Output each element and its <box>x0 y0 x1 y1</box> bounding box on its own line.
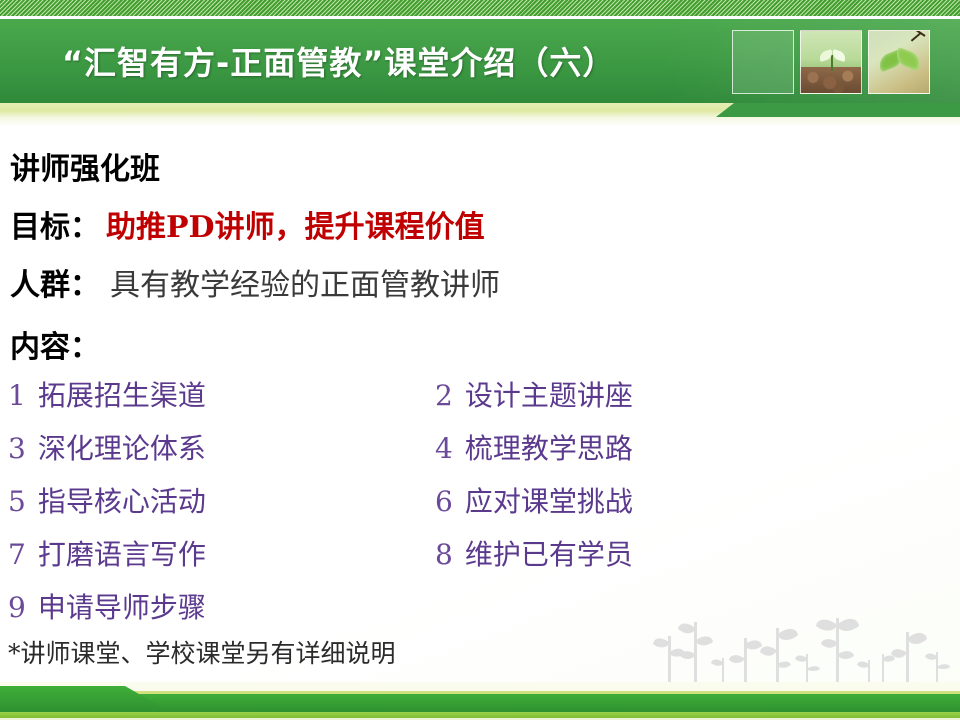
list-item: 1拓展招生渠道 <box>8 374 206 414</box>
list-item-label: 指导核心活动 <box>38 485 206 518</box>
audience-value: 具有教学经验的正面管教讲师 <box>110 268 500 303</box>
seedling-leaf-right <box>831 49 847 62</box>
footnote-text: *讲师课堂、学校课堂另有详细说明 <box>8 634 396 670</box>
list-item: 4梳理教学思路 <box>435 427 633 467</box>
page-title: “汇智有方-正面管教”课堂介绍（六） <box>62 38 615 84</box>
list-item-label: 维护已有学员 <box>465 538 633 571</box>
list-item-label: 设计主题讲座 <box>465 379 633 412</box>
list-item-number: 1 <box>8 379 26 412</box>
list-item: 3深化理论体系 <box>8 427 206 467</box>
banner-hatched-strip <box>0 0 960 16</box>
list-item-number: 9 <box>8 591 26 624</box>
content-label: 内容： <box>10 322 100 366</box>
list-item: 6应对课堂挑战 <box>435 480 633 520</box>
list-item-number: 3 <box>8 432 26 465</box>
list-item-number: 7 <box>8 538 26 571</box>
list-item: 8维护已有学员 <box>435 533 633 573</box>
goal-value: 助推PD讲师，提升课程价值 <box>106 210 485 245</box>
goal-label: 目标： <box>10 210 100 245</box>
audience-label: 人群： <box>10 268 100 303</box>
header-thumbnail-strip <box>732 30 932 94</box>
slide-canvas: “汇智有方-正面管教”课堂介绍（六） 讲师强化班 目标：助推PD讲师，提升课程价… <box>0 0 960 720</box>
list-item-label: 应对课堂挑战 <box>465 485 633 518</box>
slide-body: 讲师强化班 目标：助推PD讲师，提升课程价值 人群：具有教学经验的正面管教讲师 … <box>0 122 960 682</box>
seedling-stem <box>831 55 833 71</box>
list-item-label: 申请导师步骤 <box>38 591 206 624</box>
seedling-thumbnail <box>800 30 862 94</box>
list-item: 7打磨语言写作 <box>8 533 206 573</box>
list-item-number: 8 <box>435 538 453 571</box>
blank-thumbnail <box>732 30 794 94</box>
list-item-number: 6 <box>435 485 453 518</box>
list-item-number: 4 <box>435 432 453 465</box>
slide-footer <box>0 682 960 720</box>
list-item-label: 打磨语言写作 <box>38 538 206 571</box>
leaf-shape-right <box>893 47 923 71</box>
list-item-label: 梳理教学思路 <box>465 432 633 465</box>
list-item: 5指导核心活动 <box>8 480 206 520</box>
audience-line: 人群：具有教学经验的正面管教讲师 <box>10 260 500 304</box>
list-item: 9申请导师步骤 <box>8 586 206 626</box>
list-item: 2设计主题讲座 <box>435 374 633 414</box>
slide-header-banner: “汇智有方-正面管教”课堂介绍（六） <box>0 0 960 122</box>
goal-line: 目标：助推PD讲师，提升课程价值 <box>10 202 485 246</box>
section-heading: 讲师强化班 <box>10 144 160 188</box>
leaves-thumbnail <box>868 30 930 94</box>
list-item-number: 2 <box>435 379 453 412</box>
twig-shape <box>911 32 921 41</box>
list-item-label: 拓展招生渠道 <box>38 379 206 412</box>
list-item-number: 5 <box>8 485 26 518</box>
list-item-label: 深化理论体系 <box>38 432 206 465</box>
banner-green-wedge <box>716 103 960 117</box>
